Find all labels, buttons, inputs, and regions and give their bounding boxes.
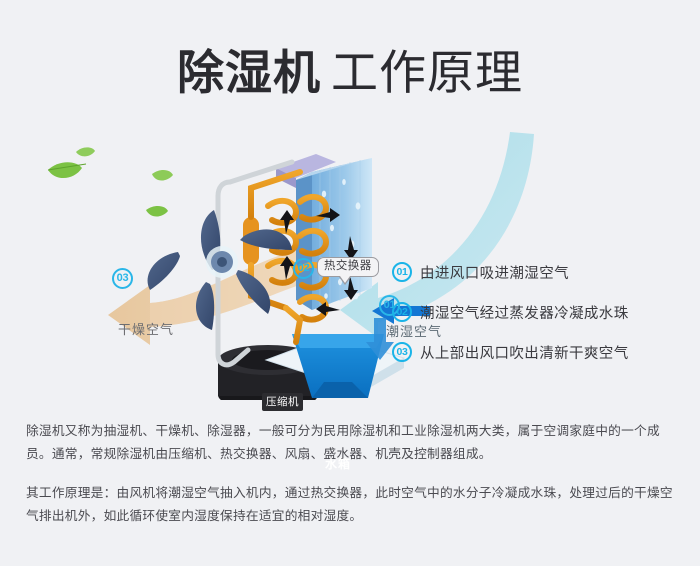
page-title-bold: 除湿机	[177, 46, 321, 99]
diagram-badge-03: 03	[112, 268, 133, 289]
step-badge-03: 03	[392, 342, 412, 362]
list-item: 02 潮湿空气经过蒸发器冷凝成水珠	[392, 292, 692, 332]
label-water-tank: 水箱	[325, 455, 351, 472]
list-item: 03 从上部出风口吹出清新干爽空气	[392, 332, 692, 372]
step-text-01: 由进风口吸进潮湿空气	[420, 262, 569, 283]
page-title: 除湿机工作原理	[0, 34, 700, 103]
diagram-badge-02: 02	[293, 258, 314, 279]
page-root: 除湿机工作原理	[0, 0, 700, 566]
steps-list: 01 由进风口吸进潮湿空气 02 潮湿空气经过蒸发器冷凝成水珠 03 从上部出风…	[392, 252, 692, 372]
step-badge-02: 02	[392, 302, 412, 322]
page-title-light: 工作原理	[331, 46, 523, 99]
label-heat-exchanger: 热交换器	[317, 257, 379, 277]
step-badge-01: 01	[392, 262, 412, 282]
leaf-icon-group	[48, 147, 173, 216]
list-item: 01 由进风口吸进潮湿空气	[392, 252, 692, 292]
paragraph-principle: 其工作原理是：由风机将潮湿空气抽入机内，通过热交换器，此时空气中的水分子冷凝成水…	[26, 482, 676, 528]
step-text-03: 从上部出风口吹出清新干爽空气	[420, 342, 629, 363]
body-copy: 除湿机又称为抽湿机、干燥机、除湿器，一般可分为民用除湿机和工业除湿机两大类，属于…	[26, 420, 676, 528]
step-text-02: 潮湿空气经过蒸发器冷凝成水珠	[420, 302, 629, 323]
label-dry-air: 干燥空气	[118, 319, 174, 338]
label-compressor: 压缩机	[262, 393, 303, 411]
